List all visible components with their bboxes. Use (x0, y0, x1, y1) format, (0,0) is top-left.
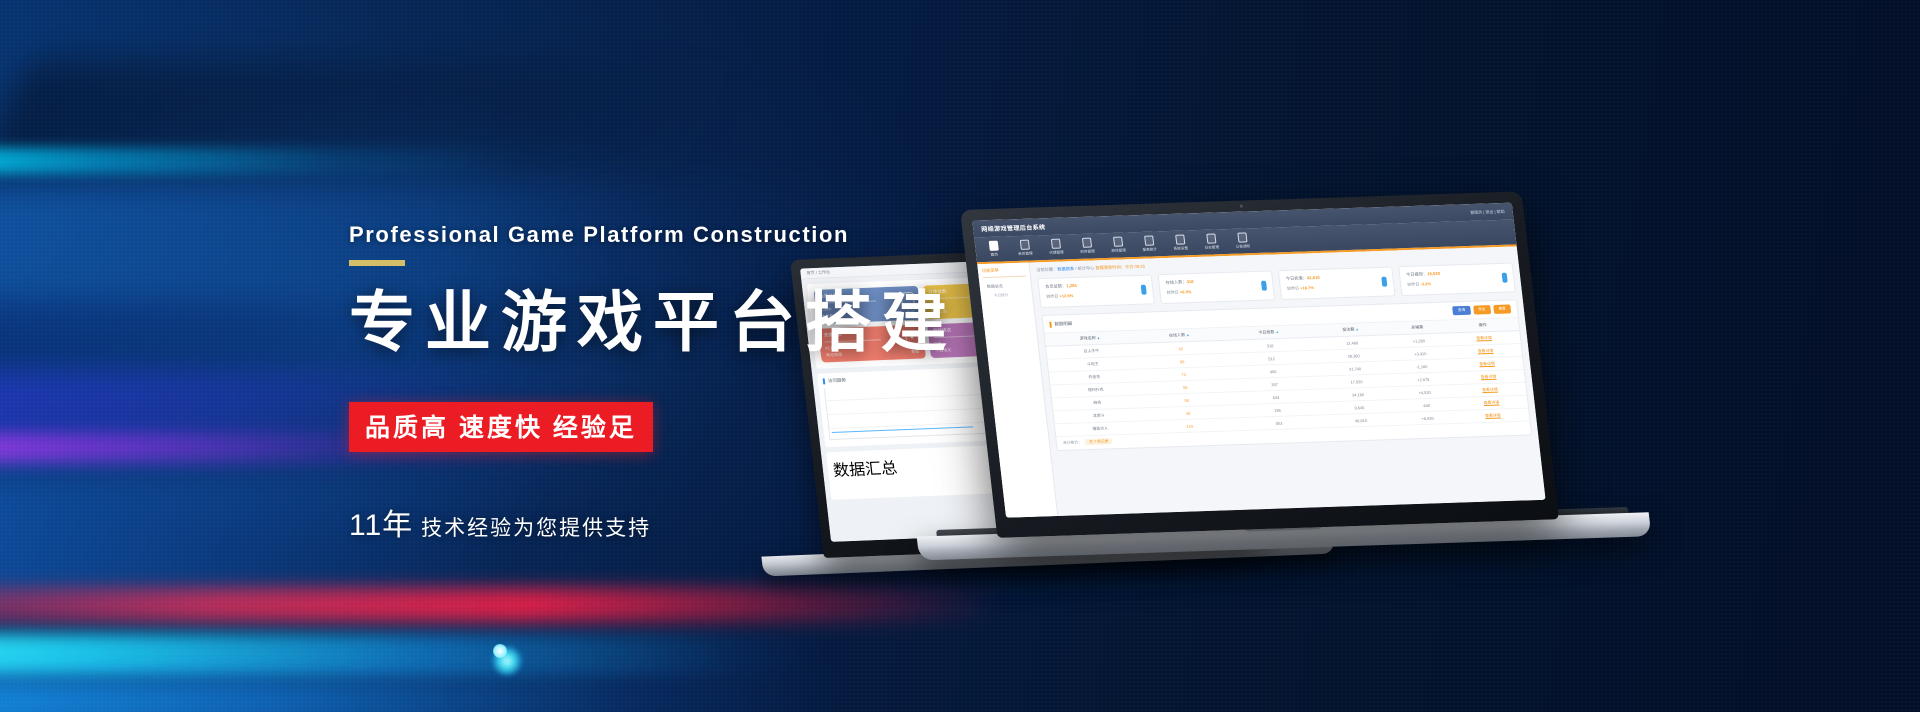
hero-years: 11年 (349, 509, 413, 542)
stat-card[interactable]: 今日充值：42,610 较昨日 +18.7% (1278, 266, 1396, 300)
column-label: 总输赢 (1411, 324, 1424, 329)
stat-sub-label: 较昨日 (1287, 285, 1301, 290)
toolbar-label: 财务管理 (1080, 249, 1095, 254)
background-streak-cyan-top (0, 148, 526, 174)
background-streak-blue-bottom (0, 676, 851, 712)
toolbar-item-notices[interactable]: 公告通知 (1231, 232, 1253, 250)
hero-copy: Professional Game Platform Construction … (349, 222, 1049, 544)
stat-label: 在线人数： (1165, 279, 1187, 285)
trend-icon (1141, 285, 1147, 295)
gear-icon (1175, 234, 1185, 244)
trend-icon (1261, 281, 1267, 291)
stat-line-1: 会员总数：1,284 (1045, 281, 1146, 290)
column-label: 在线人数 (1169, 332, 1186, 338)
reset-button[interactable]: 重置 (1493, 304, 1511, 314)
stat-value: 318 (1186, 279, 1194, 284)
toolbar-item-settings[interactable]: 系统设置 (1169, 234, 1191, 252)
toolbar-item-games[interactable]: 游戏管理 (1107, 236, 1129, 254)
app-content: 当前位置：数据报表 / 统计中心 数据更新时间：今日 09:25 会员总数：1,… (1029, 246, 1545, 516)
stat-line-2: 较昨日 +6.3% (1166, 287, 1267, 296)
hero-eyebrow: Professional Game Platform Construction (349, 222, 1049, 248)
cell-pnl: +6,930 (1398, 410, 1458, 425)
front-laptop: 网络游戏管理后台系统 管理员 | 退出 | 帮助 首页 会员管理 (960, 191, 1559, 538)
glow-dot-core (493, 644, 507, 658)
hero-eyebrow-rule (349, 260, 405, 266)
export-button[interactable]: 导出 (1473, 305, 1491, 315)
hero-subline: 11年技术经验为您提供支持 (349, 500, 1049, 544)
trend-icon (1502, 273, 1508, 283)
bell-icon (1237, 232, 1247, 242)
sort-icon[interactable]: ▲ (1186, 333, 1190, 337)
front-laptop-lid: 网络游戏管理后台系统 管理员 | 退出 | 帮助 首页 会员管理 (960, 191, 1559, 538)
app-body: 功能菜单 数据总览 今日统计 当前位置：数据报表 / 统计中心 数据更新时间：今… (977, 246, 1545, 517)
stat-line-1: 在线人数：318 (1165, 277, 1266, 286)
stat-value: 42,610 (1307, 275, 1320, 280)
trend-icon (1381, 277, 1387, 287)
breadcrumb-mid: / 统计中心 (1074, 265, 1095, 271)
stat-sub-value: +6.3% (1180, 289, 1192, 294)
stat-value: 1,284 (1066, 283, 1077, 288)
stat-line-2: 较昨日 +12.5% (1046, 291, 1147, 300)
stat-sub-value: -3.2% (1420, 281, 1431, 286)
user-bar[interactable]: 管理员 | 退出 | 帮助 (1470, 208, 1505, 215)
stat-card[interactable]: 今日提现：19,530 较昨日 -3.2% (1398, 262, 1516, 296)
sort-icon[interactable]: ▲ (1355, 327, 1359, 331)
stat-value: 19,530 (1427, 271, 1440, 276)
table-title: 数据明细 (1049, 320, 1072, 327)
toolbar-item-logs[interactable]: 日志管理 (1200, 233, 1222, 251)
stat-label: 今日提现： (1406, 271, 1428, 277)
hero-subline-text: 技术经验为您提供支持 (421, 517, 651, 540)
stat-line-2: 较昨日 +18.7% (1287, 283, 1388, 292)
background-dark-wedge (0, 60, 787, 170)
toolbar-label: 报表统计 (1142, 247, 1157, 252)
footer-count: 共 7 条记录 (1085, 438, 1113, 445)
toolbar-label: 系统设置 (1173, 246, 1188, 251)
stat-sub-label: 较昨日 (1407, 282, 1421, 287)
breadcrumb-current[interactable]: 数据报表 (1057, 266, 1074, 272)
hero-banner: Professional Game Platform Construction … (0, 0, 1920, 712)
column-label: 操作 (1478, 322, 1487, 327)
toolbar-item-reports[interactable]: 报表统计 (1138, 235, 1160, 253)
sort-icon[interactable]: ▲ (1097, 336, 1101, 340)
stat-label: 今日充值： (1286, 275, 1308, 281)
breadcrumb-tail: 数据更新时间：今日 09:25 (1094, 264, 1145, 271)
report-icon (1144, 236, 1154, 246)
hero-badge: 品质高 速度快 经验足 (349, 402, 653, 452)
query-button[interactable]: 查询 (1453, 306, 1471, 316)
toolbar-label: 日志管理 (1204, 245, 1219, 250)
toolbar-label: 游戏管理 (1111, 248, 1126, 253)
stat-line-1: 今日充值：42,610 (1286, 273, 1387, 282)
webcam-icon (1240, 205, 1243, 208)
stat-line-2: 较昨日 -3.2% (1407, 279, 1508, 288)
game-icon (1113, 237, 1123, 247)
front-laptop-screen: 网络游戏管理后台系统 管理员 | 退出 | 帮助 首页 会员管理 (972, 203, 1545, 518)
stat-sub-value: +18.7% (1300, 285, 1314, 290)
stat-line-1: 今日提现：19,530 (1406, 269, 1507, 278)
column-label: 游戏名称 (1079, 335, 1096, 341)
footer-label: 合计统计： (1063, 440, 1082, 445)
data-table-panel: 数据明细 查询 导出 重置 (1041, 299, 1532, 451)
table-actions: 查询 导出 重置 (1453, 304, 1512, 315)
toolbar-item-finance[interactable]: 财务管理 (1076, 237, 1098, 255)
stat-sub-label: 较昨日 (1166, 289, 1180, 294)
stat-sub-value: +12.5% (1059, 293, 1073, 298)
sort-icon[interactable]: ▲ (1275, 330, 1279, 334)
column-label: 投注额 (1342, 327, 1355, 332)
finance-icon (1081, 238, 1091, 248)
data-table: 游戏名称▲ 在线人数▲ 今日局数▲ 投注额▲ 总输赢 操作 (1045, 318, 1530, 437)
hero-headline: 专业游戏平台搭建 (349, 286, 1049, 360)
toolbar-label: 公告通知 (1236, 244, 1251, 249)
log-icon (1206, 233, 1216, 243)
glow-dot (492, 646, 522, 676)
agent-icon (1050, 239, 1060, 249)
toolbar-label: 代理管理 (1049, 250, 1064, 255)
stat-card[interactable]: 在线人数：318 较昨日 +6.3% (1158, 270, 1276, 304)
stat-card[interactable]: 会员总数：1,284 较昨日 +12.5% (1037, 274, 1155, 308)
column-label: 今日局数 (1258, 329, 1275, 335)
background-streak-cyan-bottom (0, 634, 828, 676)
